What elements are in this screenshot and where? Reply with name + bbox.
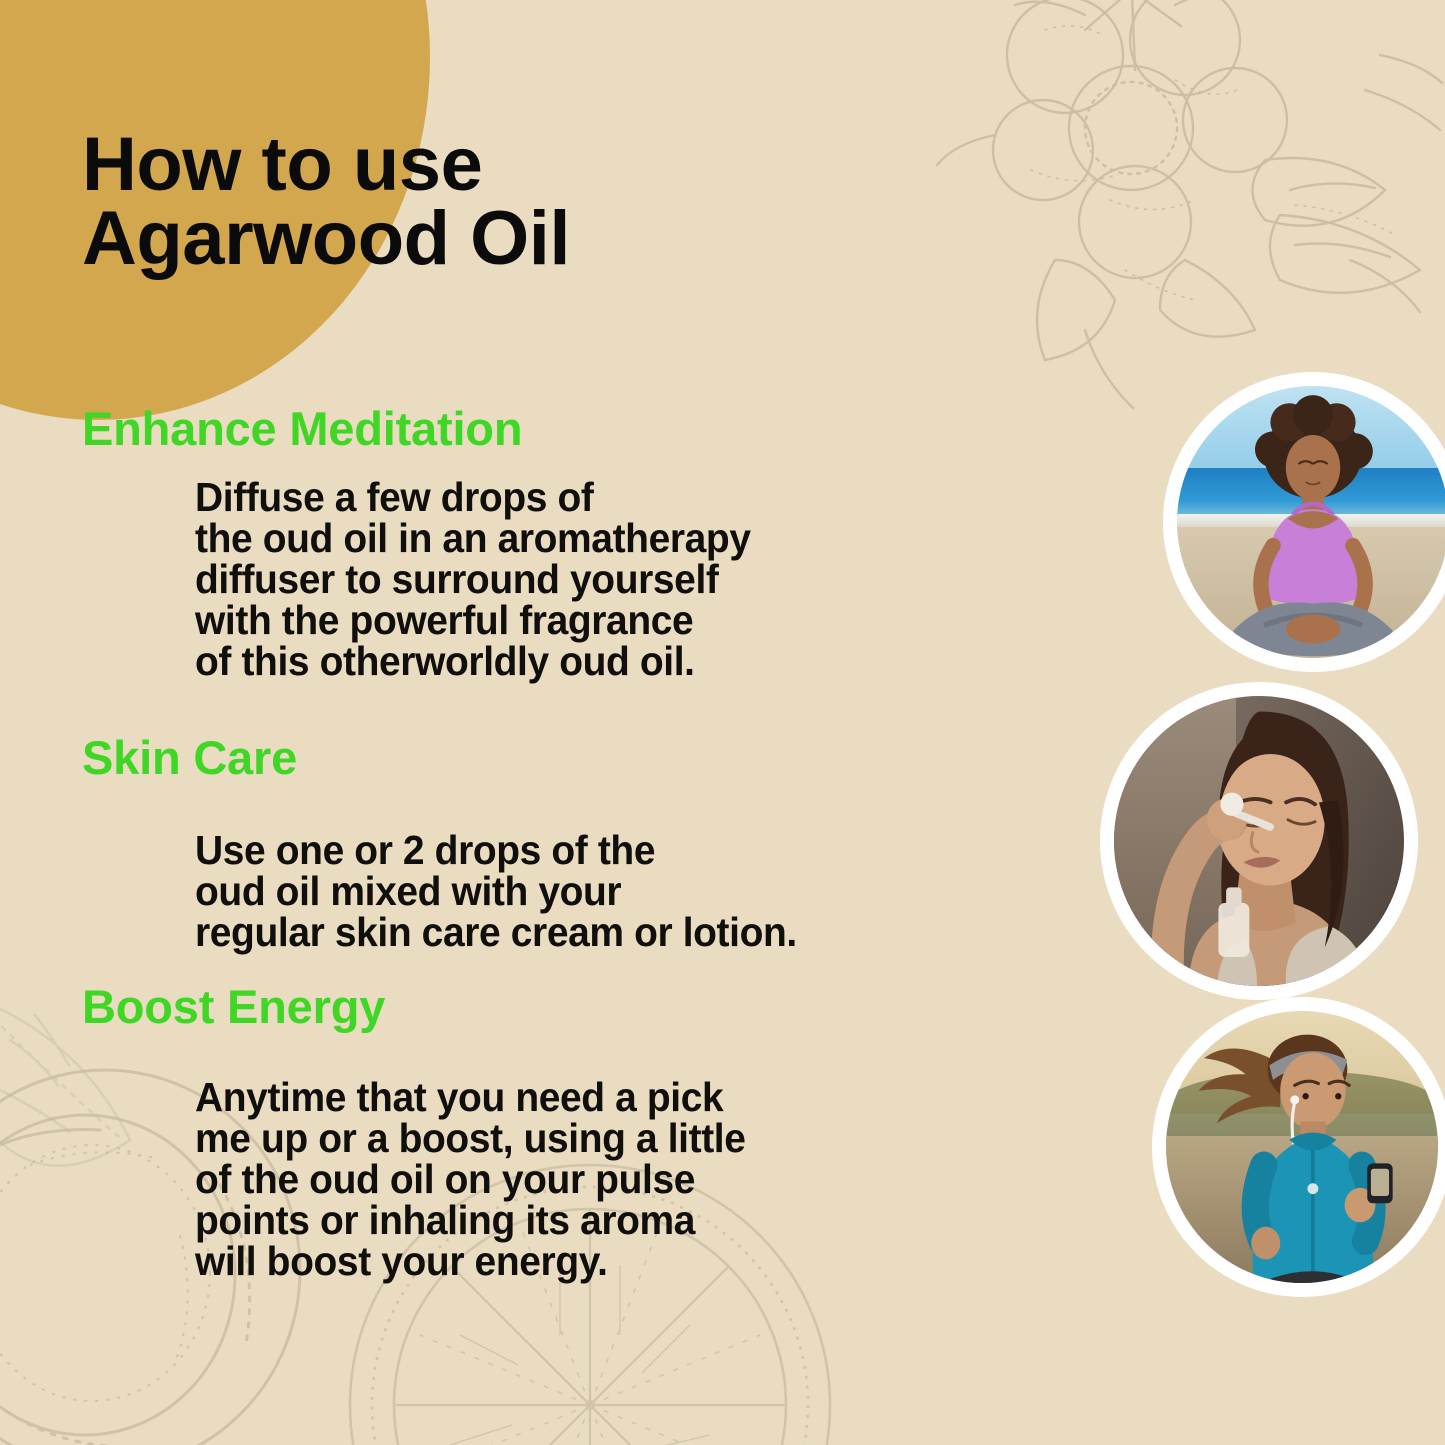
body-line: the oud oil in an aromatherapy [195,518,998,559]
section-heading-enhance-meditation: Enhance Meditation [82,404,1040,455]
section-heading-skin-care: Skin Care [82,733,1040,784]
photo-meditation-disc [1177,386,1445,658]
section-body-skin-care: Use one or 2 drops of the oud oil mixed … [195,830,998,953]
body-line: of this otherworldly oud oil. [195,641,998,682]
section-body-enhance-meditation: Diffuse a few drops of the oud oil in an… [195,477,998,682]
body-line: regular skin care cream or lotion. [195,912,998,953]
body-line: Anytime that you need a pick [195,1077,998,1118]
body-line: points or inhaling its aroma [195,1200,998,1241]
body-line: diffuser to surround yourself [195,559,998,600]
body-line: will boost your energy. [195,1241,998,1282]
body-line: with the powerful fragrance [195,600,998,641]
photo-boost-energy [1152,997,1445,1297]
meditating-woman-figure [1177,386,1445,658]
photo-skin-care [1100,682,1418,1000]
page-title-line-2: Agarwood Oil [82,202,802,276]
photo-meditation [1163,372,1445,672]
photo-skin-care-disc [1114,696,1404,986]
serum-application-figure [1114,696,1404,986]
body-line: Diffuse a few drops of [195,477,998,518]
body-line: Use one or 2 drops of the [195,830,998,871]
jogging-woman-figure [1166,1011,1438,1283]
infographic-poster: How to use Agarwood Oil Enhance Meditati… [0,0,1445,1445]
page-title-line-1: How to use [82,128,802,202]
body-line: of the oud oil on your pulse [195,1159,998,1200]
section-enhance-meditation: Enhance Meditation Diffuse a few drops o… [0,404,1040,682]
section-body-boost-energy: Anytime that you need a pick me up or a … [195,1077,998,1282]
section-heading-boost-energy: Boost Energy [82,982,1040,1033]
page-title: How to use Agarwood Oil [82,128,802,275]
body-line: me up or a boost, using a little [195,1118,998,1159]
section-boost-energy: Boost Energy Anytime that you need a pic… [0,982,1040,1282]
section-skin-care: Skin Care Use one or 2 drops of the oud … [0,733,1040,953]
botanical-fruit-branch-watermark [935,0,1445,430]
photo-boost-energy-disc [1166,1011,1438,1283]
body-line: oud oil mixed with your [195,871,998,912]
